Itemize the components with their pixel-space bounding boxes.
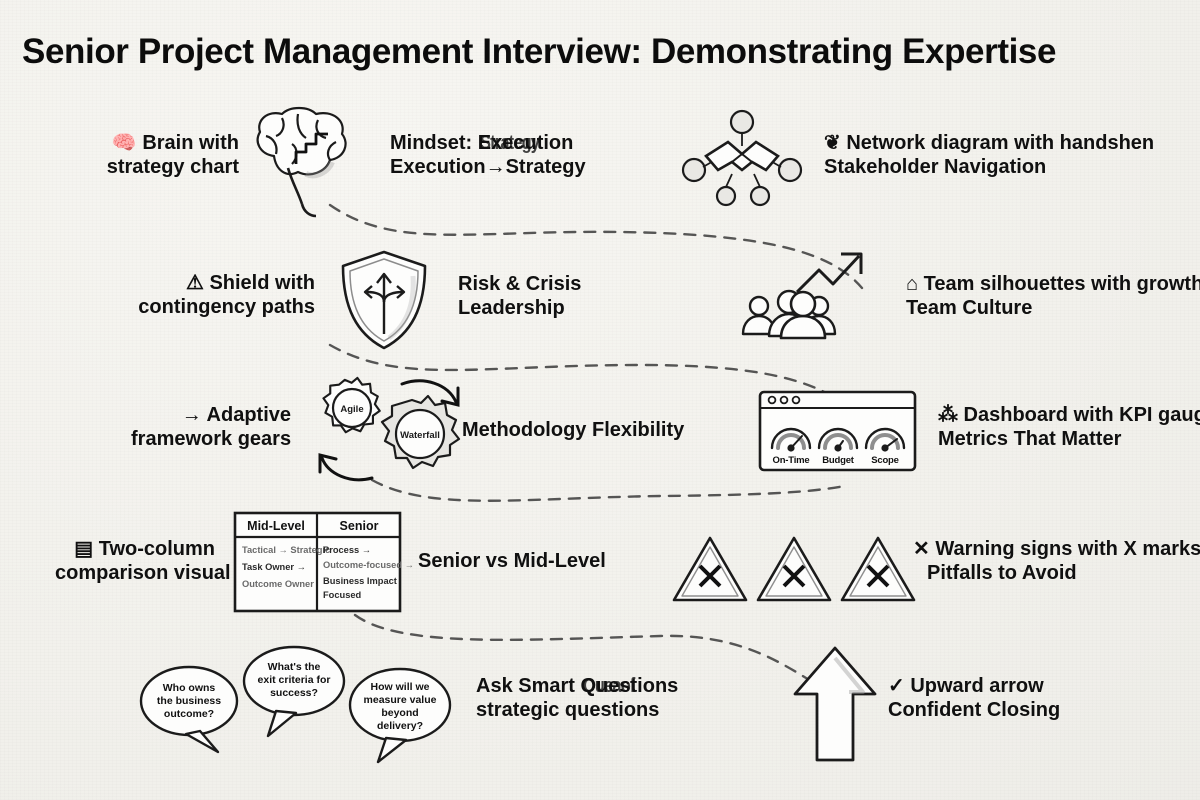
row5-right-label-line1: ✓ Upward arrow [888,674,1060,698]
row5-right-label: ✓ Upward arrow Confident Closing [888,674,1060,723]
row5-right-label-line2: Confident Closing [888,698,1060,722]
infographic-canvas: Senior Project Management Interview: Dem… [0,0,1200,800]
